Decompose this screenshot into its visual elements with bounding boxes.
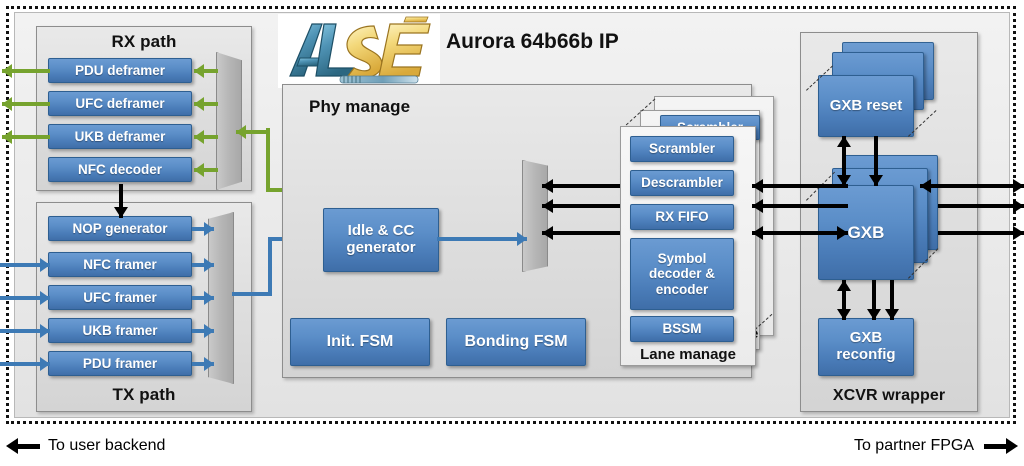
block-pdu-deframer[interactable]: PDU deframer: [48, 58, 192, 83]
footer-left-arrow-icon: [6, 437, 40, 455]
arrow-rx-mux-to-nfc-decoder: [194, 162, 218, 177]
blue-route-horizontal-lower: [232, 292, 272, 296]
block-ufc-framer[interactable]: UFC framer: [48, 285, 192, 310]
block-rx-fifo[interactable]: RX FIFO: [630, 204, 734, 230]
block-descrambler[interactable]: Descrambler: [630, 170, 734, 196]
tx-path-title: TX path: [37, 385, 251, 405]
block-idle-cc-generator[interactable]: Idle & CC generator: [323, 208, 439, 272]
block-ufc-deframer[interactable]: UFC deframer: [48, 91, 192, 116]
arrow-in-ukb-framer: [0, 323, 50, 338]
alse-logo-graphic: [278, 14, 440, 88]
block-bonding-fsm[interactable]: Bonding FSM: [446, 318, 586, 366]
lane-manage-title: Lane manage: [620, 346, 756, 363]
arrow-gxb-lane-bidir: [752, 225, 848, 241]
rx-mux: [216, 52, 242, 190]
footer-right-caption: To partner FPGA: [854, 437, 974, 455]
block-pdu-framer[interactable]: PDU framer: [48, 351, 192, 376]
arrow-green-into-rx-mux: [236, 124, 270, 139]
arrow-ufc-deframer-out: [2, 96, 50, 111]
rx-path-title: RX path: [37, 32, 251, 52]
block-init-fsm[interactable]: Init. FSM: [290, 318, 430, 366]
arrow-nfc-framer-to-tx-mux: [192, 257, 214, 272]
arrow-gxb-to-reconfig-1: [866, 280, 882, 320]
arrow-in-ufc-framer: [0, 290, 50, 305]
block-ukb-framer[interactable]: UKB framer: [48, 318, 192, 343]
block-scrambler[interactable]: Scrambler: [630, 136, 734, 162]
arrow-serial-out-bidir: [920, 178, 1024, 194]
block-gxb-reset[interactable]: GXB reset: [818, 75, 914, 137]
arrow-idle-cc-to-phy-mux: [437, 231, 527, 246]
footer-left-caption: To user backend: [48, 437, 165, 455]
alse-logo: [278, 14, 440, 88]
block-symbol-decoder-encoder[interactable]: Symbol decoder & encoder: [630, 238, 734, 310]
arrow-nfc-decoder-to-tx-path: [113, 184, 129, 218]
phy-mux: [522, 160, 548, 272]
arrow-ufc-framer-to-tx-mux: [192, 290, 214, 305]
arrow-nop-generator-to-tx-mux: [192, 221, 214, 236]
block-bssm[interactable]: BSSM: [630, 316, 734, 342]
block-nfc-framer[interactable]: NFC framer: [48, 252, 192, 277]
arrow-rx-mux-to-pdu-deframer: [194, 63, 218, 78]
footer-right-arrow-icon: [984, 437, 1018, 455]
arrow-gxb-to-lane-2: [752, 198, 848, 214]
block-ukb-deframer[interactable]: UKB deframer: [48, 124, 192, 149]
arrow-rx-mux-to-ufc-deframer: [194, 96, 218, 111]
arrow-gxb-to-reconfig-2: [884, 280, 900, 320]
block-nop-generator[interactable]: NOP generator: [48, 216, 192, 241]
arrow-pdu-deframer-out: [2, 63, 50, 78]
arrow-serial-out-1: [938, 198, 1024, 214]
arrow-in-pdu-framer: [0, 356, 50, 371]
arrow-gxb-to-lane-1: [752, 178, 848, 194]
block-nfc-decoder[interactable]: NFC decoder: [48, 157, 192, 182]
arrow-gxb-reset-to-gxb: [868, 136, 884, 186]
block-gxb-reconfig[interactable]: GXB reconfig: [818, 318, 914, 376]
arrow-in-nfc-framer: [0, 257, 50, 272]
xcvr-wrapper-title: XCVR wrapper: [801, 387, 977, 405]
arrow-serial-out-2: [938, 225, 1024, 241]
arrow-rx-mux-to-ukb-deframer: [194, 129, 218, 144]
arrow-ukb-deframer-out: [2, 129, 50, 144]
arrow-gxb-reconfig-bidir: [836, 280, 852, 320]
arrow-ukb-framer-to-tx-mux: [192, 323, 214, 338]
arrow-pdu-framer-to-tx-mux: [192, 356, 214, 371]
ip-title: Aurora 64b66b IP: [446, 30, 619, 54]
diagram-canvas: Aurora 64b66b IP RX path PDU deframer UF…: [0, 0, 1024, 466]
blue-route-vertical: [268, 238, 272, 296]
